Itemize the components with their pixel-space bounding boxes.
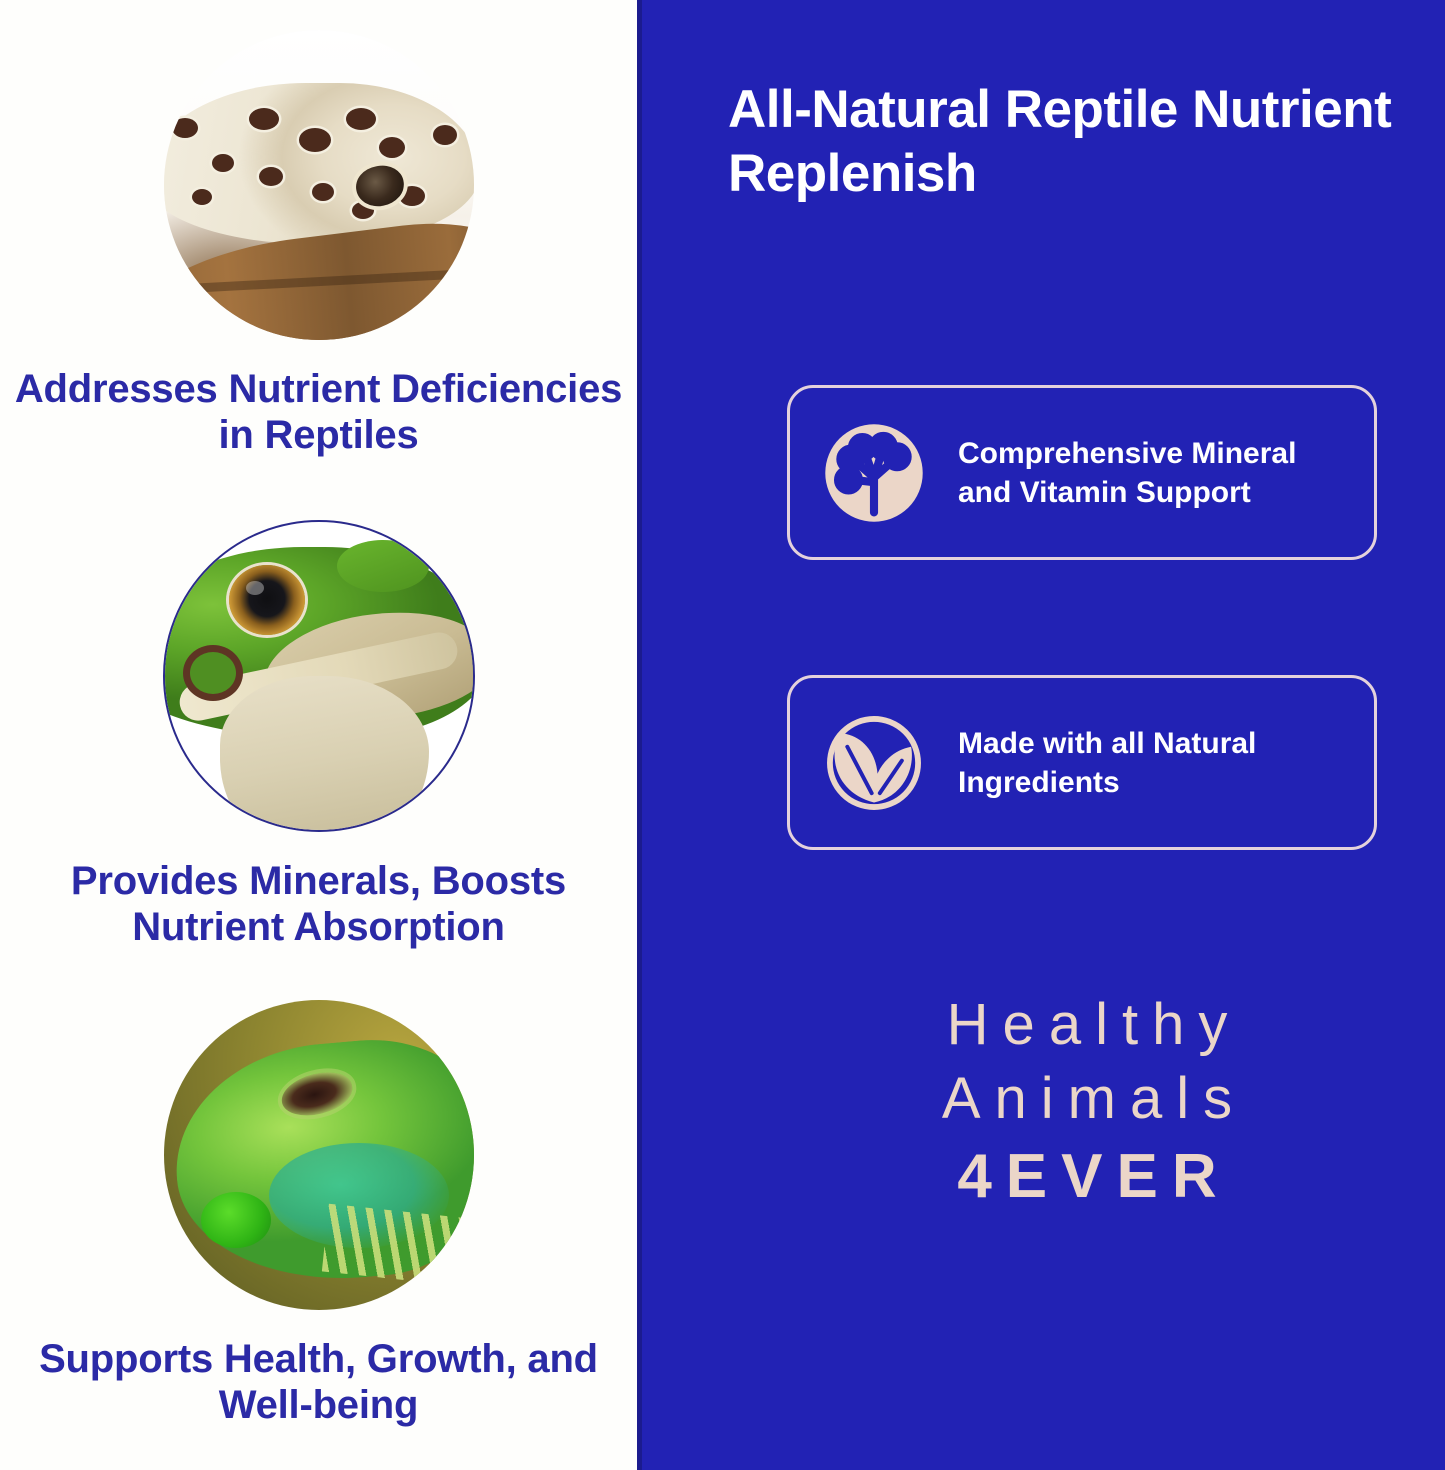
leopard-gecko-photo — [164, 30, 474, 340]
tree-circle-icon — [816, 415, 932, 531]
frog-eardrum — [183, 645, 243, 701]
frog-eye — [229, 565, 305, 635]
leaves-circle-icon — [816, 705, 932, 821]
benefit-badge-label-2: Made with all Natural Ingredients — [958, 724, 1348, 802]
brand-tagline: 4EVER — [787, 1140, 1387, 1214]
left-feature-column: Addresses Nutrient Deficiencies in Repti… — [0, 0, 637, 1470]
benefit-badge-natural-ingredients: Made with all Natural Ingredients — [787, 675, 1377, 850]
benefit-badge-label-1: Comprehensive Mineral and Vitamin Suppor… — [958, 434, 1348, 512]
feature-caption-2: Provides Minerals, Boosts Nutrient Absor… — [9, 858, 629, 950]
brand-lockup: Healthy Animals 4EVER — [787, 988, 1387, 1215]
feature-block-2: Provides Minerals, Boosts Nutrient Absor… — [0, 520, 637, 950]
feature-caption-3: Supports Health, Growth, and Well-being — [9, 1336, 629, 1428]
feature-caption-1: Addresses Nutrient Deficiencies in Repti… — [9, 366, 629, 458]
feature-block-3: Supports Health, Growth, and Well-being — [0, 1000, 637, 1428]
brand-line-1: Healthy — [787, 988, 1387, 1062]
gecko-body-shape — [164, 83, 474, 244]
feature-block-1: Addresses Nutrient Deficiencies in Repti… — [0, 30, 637, 458]
brand-line-2: Animals — [787, 1062, 1387, 1136]
green-iguana-photo — [164, 1000, 474, 1310]
product-infographic: Addresses Nutrient Deficiencies in Repti… — [0, 0, 1445, 1470]
frog-throat — [220, 676, 429, 832]
right-info-panel: All-Natural Reptile Nutrient Replenish — [637, 0, 1445, 1470]
benefit-badge-mineral-vitamin: Comprehensive Mineral and Vitamin Suppor… — [787, 385, 1377, 560]
page-title: All-Natural Reptile Nutrient Replenish — [728, 78, 1408, 205]
iguana-dorsal-crest — [322, 1204, 471, 1287]
iguana-eardrum — [201, 1192, 271, 1248]
green-frog-photo — [163, 520, 475, 832]
